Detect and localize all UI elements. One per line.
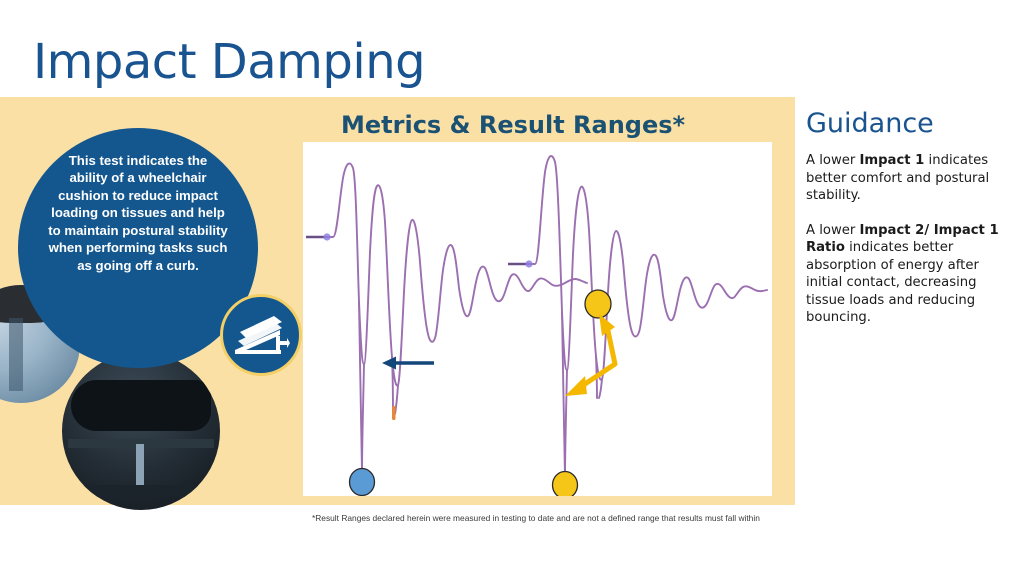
rig-cushion-part	[71, 380, 210, 431]
trace1-start-dot	[323, 233, 330, 240]
rig-base-part	[71, 485, 210, 498]
page-title: Impact Damping	[33, 38, 425, 86]
metrics-header: Metrics & Result Ranges*	[341, 111, 685, 139]
impact-test-rig-photo	[62, 352, 220, 510]
cream-background-band-right	[774, 97, 795, 505]
guidance-p1-bold: Impact 1	[859, 153, 924, 168]
result-ranges-footnote: *Result Ranges declared herein were meas…	[312, 513, 760, 523]
guidance-p1-pre: A lower	[806, 153, 859, 168]
slide-canvas: Impact Damping This test indicates the a…	[0, 0, 1024, 575]
impact1-marker-dot	[350, 469, 375, 496]
guidance-title: Guidance	[806, 110, 1006, 137]
cushion-on-ramp-icon	[220, 294, 302, 376]
guidance-paragraph-1: A lower Impact 1 indicates better comfor…	[806, 152, 1006, 205]
impact1-pointer-arrow-icon	[380, 353, 435, 373]
impact-damping-waveforms	[303, 142, 772, 496]
description-circle-text: This test indicates the ability of a whe…	[48, 152, 228, 274]
chart-panel	[303, 142, 772, 496]
impact2-ratio-double-arrow-icon	[555, 312, 630, 407]
guidance-paragraph-2: A lower Impact 2/ Impact 1 Ratio indicat…	[806, 222, 1006, 327]
trace2-start-dot	[525, 260, 532, 267]
trace1-secondary-marker	[392, 406, 396, 420]
guidance-p2-pre: A lower	[806, 223, 859, 238]
guidance-section: Guidance A lower Impact 1 indicates bett…	[806, 110, 1006, 344]
impact2-trace-impact1-marker-dot	[553, 472, 578, 497]
